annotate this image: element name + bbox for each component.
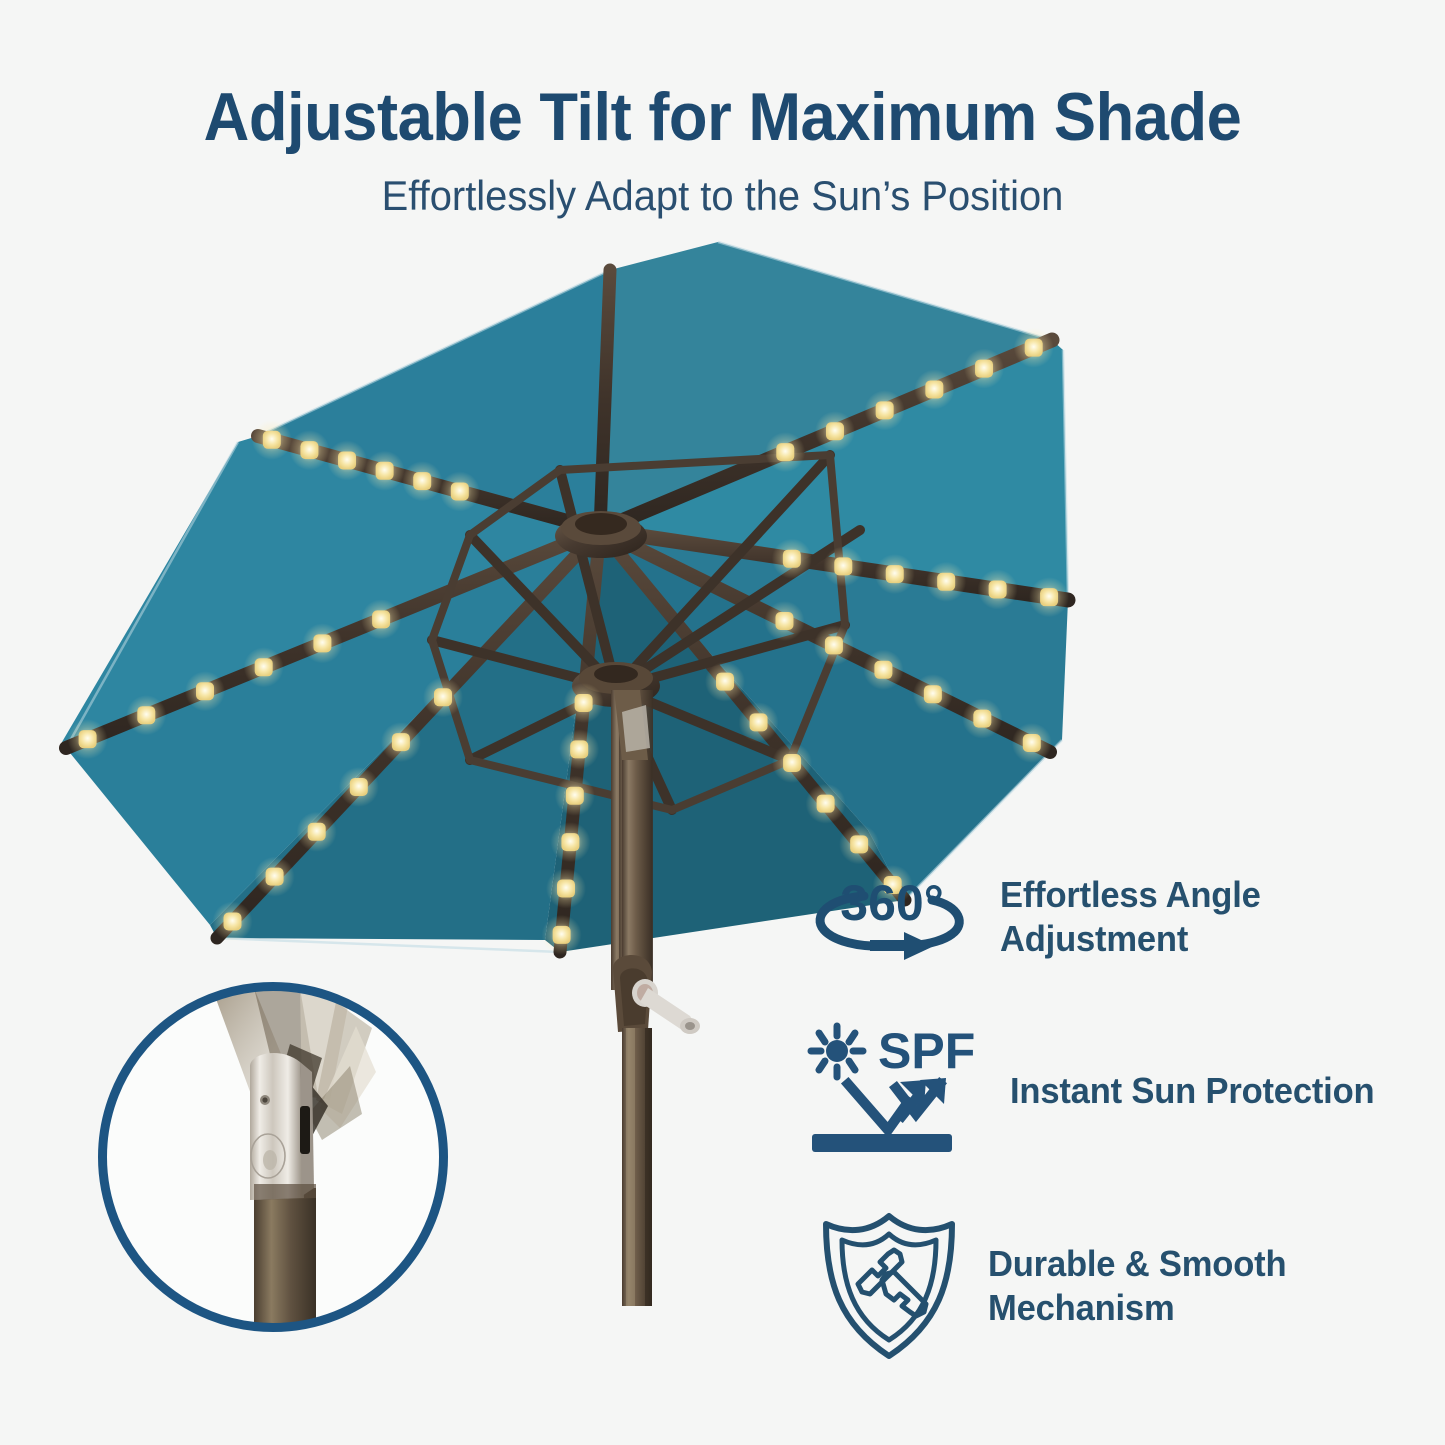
led-light [553,926,571,944]
led-glow [926,562,966,602]
led-light [825,636,843,654]
led-light [313,634,331,652]
led-light [876,401,894,419]
led-light [716,673,734,691]
led-glow [361,599,401,639]
led-glow [252,420,292,460]
led-glow [705,662,745,702]
led-glow [255,857,295,897]
led-light [1025,339,1043,357]
led-light [350,778,368,796]
led-glow [964,349,1004,389]
led-light [975,360,993,378]
led-glow [68,719,108,759]
umbrella-strut-braces [432,455,845,810]
led-glow [555,776,595,816]
led-light [750,713,768,731]
led-glow [289,430,329,470]
product-feature-image: Adjustable Tilt for Maximum Shade Effort… [0,0,1445,1445]
led-glow [865,390,905,430]
led-glow [402,461,442,501]
feature-label-durable-mechanism: Durable & Smooth Mechanism [988,1242,1286,1330]
led-light [372,610,390,628]
led-glow [814,625,854,665]
led-light [255,658,273,676]
led-light [937,573,955,591]
led-light [817,795,835,813]
led-glow [546,869,586,909]
led-light [1023,734,1041,752]
led-glow [212,901,252,941]
360-degree-rotation-icon: 360° [806,866,978,968]
led-light [874,661,892,679]
led-glow [339,767,379,807]
led-light [775,612,793,630]
led-glow [765,432,805,472]
feature-label-line1: Effortless Angle [1000,873,1261,917]
spf-surface-bar [812,1134,952,1152]
led-light [451,482,469,500]
umbrella-pole [611,690,700,1306]
feature-label-line2: Adjustment [1000,917,1261,961]
feature-label-line1: Durable & Smooth [988,1242,1286,1286]
feature-label-line1: Instant Sun Protection [1010,1069,1374,1113]
inset-ring-border [98,982,448,1332]
led-light [1040,588,1058,606]
led-light [308,823,326,841]
page-title: Adjustable Tilt for Maximum Shade [51,78,1395,156]
led-light [338,451,356,469]
led-light [850,835,868,853]
led-glow [327,440,367,480]
led-glow [978,569,1018,609]
led-glow [126,695,166,735]
led-glow [764,601,804,641]
led-glow [815,411,855,451]
led-glow [550,822,590,862]
led-light [570,740,588,758]
feature-durable-mechanism: Durable & Smooth Mechanism [818,1212,1438,1360]
umbrella-runner-hub [572,662,660,707]
led-glow [739,702,779,742]
led-glow [1014,328,1054,368]
led-light [561,833,579,851]
led-light [263,431,281,449]
led-light [557,880,575,898]
umbrella-ribs [66,270,1068,952]
shield-wrench-icon [818,1212,960,1360]
led-glow [297,812,337,852]
led-light [434,688,452,706]
feature-label-sun-protection: Instant Sun Protection [1010,1069,1374,1113]
led-glow [440,471,480,511]
led-light [826,422,844,440]
led-glow [772,743,812,783]
led-glow [381,722,421,762]
umbrella-led-lights [68,328,1069,955]
led-light [566,787,584,805]
led-glow [542,915,582,955]
led-glow [1029,577,1069,617]
feature-label-angle-adjustment: Effortless Angle Adjustment [1000,873,1261,961]
tilt-mechanism-inset [98,982,448,1332]
led-light [925,380,943,398]
led-light [79,730,97,748]
led-light [223,912,241,930]
led-light [989,580,1007,598]
led-glow [914,369,954,409]
led-light [575,694,593,712]
led-glow [806,784,846,824]
led-glow [302,623,342,663]
led-light [376,462,394,480]
led-light [783,550,801,568]
led-light [924,685,942,703]
spf-sun-protection-icon: SPF [800,1022,990,1160]
led-glow [559,729,599,769]
360-icon-text: 360° [840,875,943,931]
canopy-edge-highlights [66,242,1068,952]
umbrella-upper-hub [555,511,647,558]
feature-sun-protection: SPF Instant Sun Protection [800,1022,1440,1160]
feature-angle-adjustment: 360° Effortless Angle Adjustment [806,866,1426,968]
led-light [300,441,318,459]
led-glow [772,539,812,579]
led-glow [913,674,953,714]
led-light [413,472,431,490]
led-glow [875,554,915,594]
led-light [196,682,214,700]
led-glow [823,546,863,586]
feature-label-line2: Mechanism [988,1286,1286,1330]
umbrella-struts [432,455,860,810]
spf-icon-text: SPF [878,1023,975,1079]
led-glow [185,671,225,711]
page-subtitle: Effortlessly Adapt to the Sun’s Position [36,172,1409,220]
led-glow [962,699,1002,739]
led-light [973,710,991,728]
umbrella-canopy [62,242,1068,952]
led-glow [863,650,903,690]
led-light [834,557,852,575]
led-glow [244,647,284,687]
led-glow [1012,723,1052,763]
led-light [392,733,410,751]
led-glow [365,451,405,491]
led-glow [423,677,463,717]
led-light [137,706,155,724]
led-glow [564,683,604,723]
led-light [266,868,284,886]
led-glow [839,824,879,864]
led-light [783,754,801,772]
led-light [776,443,794,461]
led-light [886,565,904,583]
